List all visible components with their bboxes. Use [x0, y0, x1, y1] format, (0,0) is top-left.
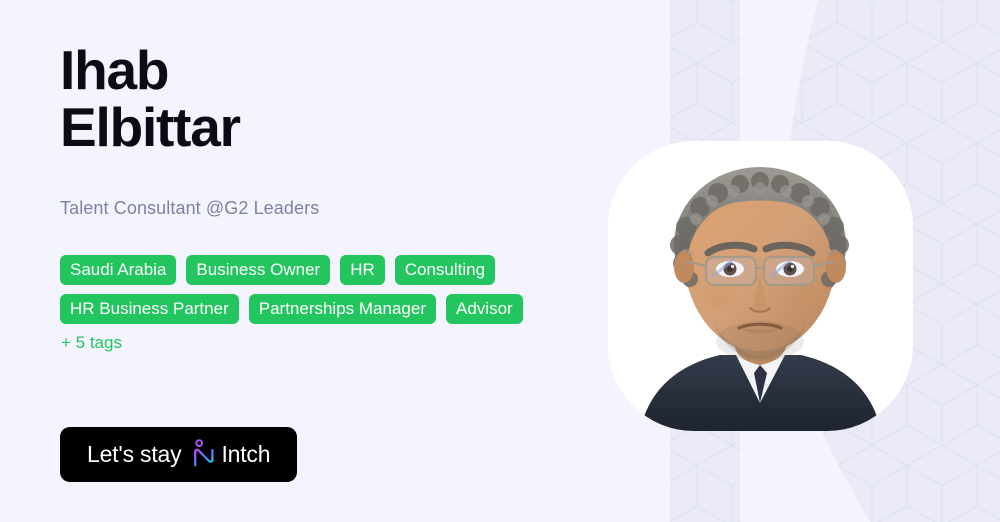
tag-chip[interactable]: Saudi Arabia: [60, 255, 176, 285]
portrait-photo: [608, 141, 913, 431]
tag-chip[interactable]: HR Business Partner: [60, 294, 239, 324]
profile-card: Ihab Elbittar Talent Consultant @G2 Lead…: [0, 0, 1000, 522]
tag-chip[interactable]: Business Owner: [186, 255, 330, 285]
tag-chip[interactable]: Advisor: [446, 294, 523, 324]
tag-list: Saudi Arabia Business Owner HR Consultin…: [60, 255, 530, 352]
page-title: Ihab Elbittar: [60, 42, 600, 156]
profile-headline: Talent Consultant @G2 Leaders: [60, 197, 600, 219]
tag-chip[interactable]: HR: [340, 255, 385, 285]
intch-n-logo-icon: [181, 439, 215, 469]
avatar: [608, 141, 913, 431]
cta-brand-label: Intch: [215, 441, 270, 468]
tag-chip[interactable]: Partnerships Manager: [249, 294, 436, 324]
more-tags-label[interactable]: + 5 tags: [60, 333, 122, 352]
intch-n-glyph-icon: [192, 439, 215, 469]
cta-label: Let's stay: [87, 441, 181, 468]
lets-stay-intch-button[interactable]: Let's stay Intch: [60, 427, 297, 482]
tag-chip[interactable]: Consulting: [395, 255, 495, 285]
